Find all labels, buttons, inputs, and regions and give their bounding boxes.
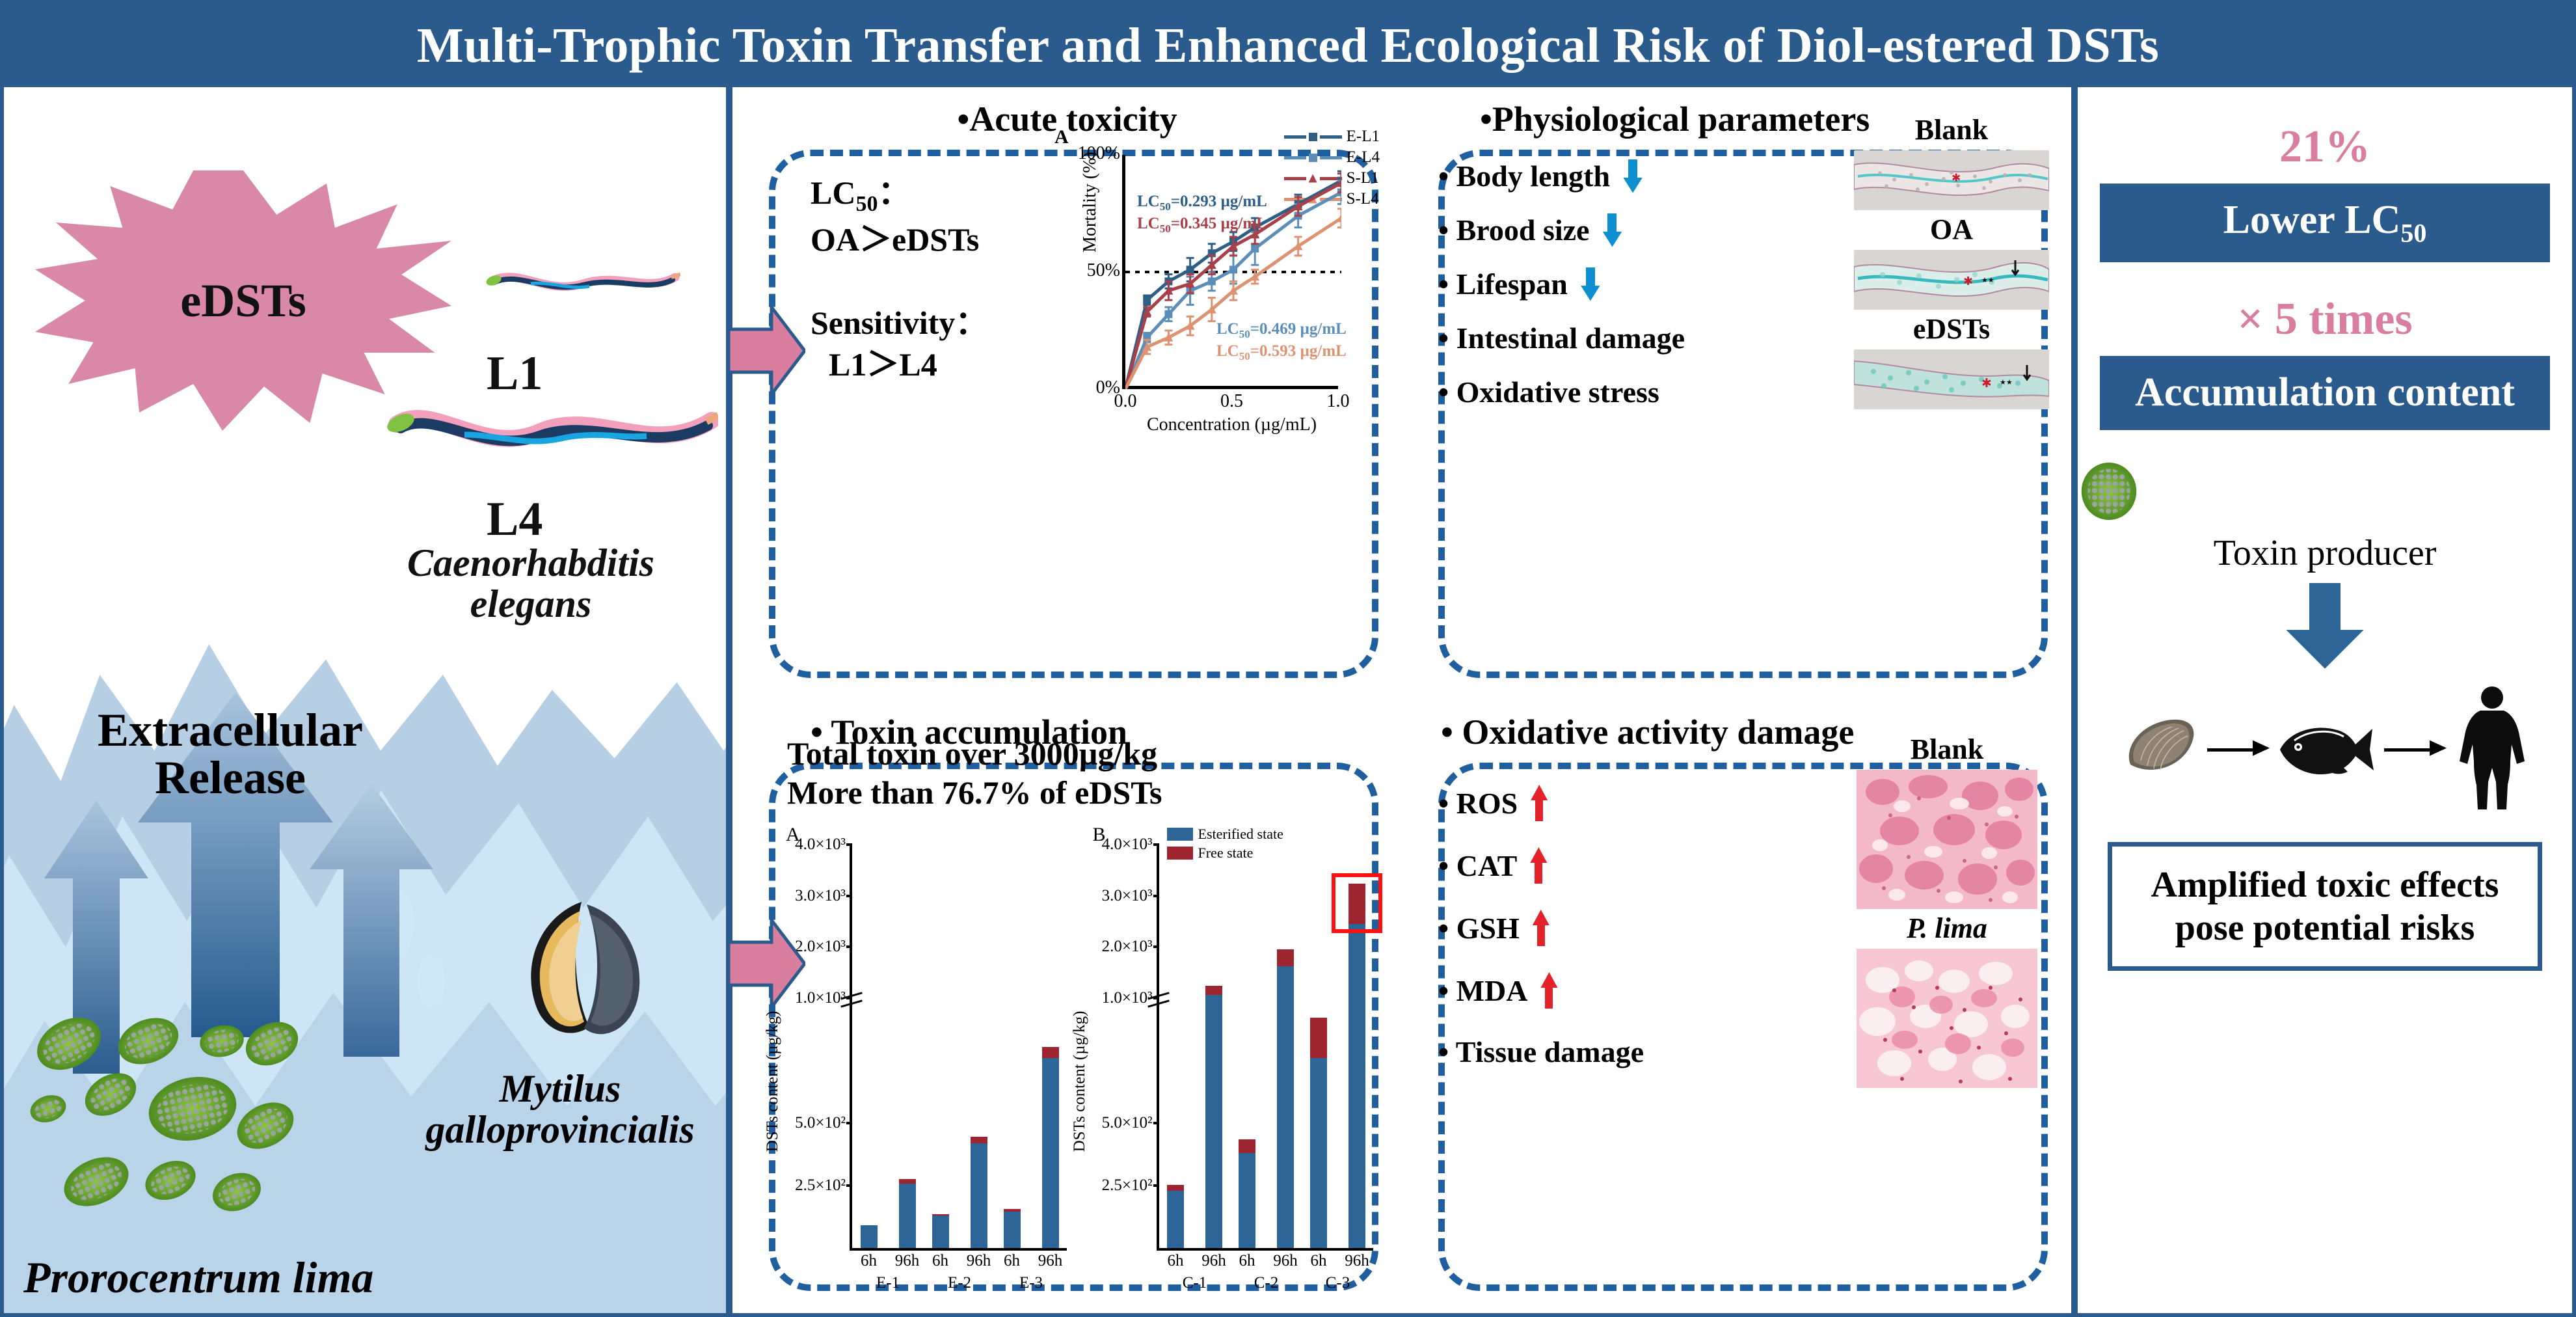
worm-micrograph-edsts: ✱ ★★ (1854, 349, 2049, 409)
bar-stack (1042, 1047, 1059, 1248)
chart-group-label: C-2 (1254, 1274, 1279, 1292)
center-panel: •Acute toxicity LC50： OA＞eDSTs Sensitivi… (732, 87, 2071, 1313)
bar-stack (1205, 986, 1222, 1248)
bar-stack (1004, 1209, 1021, 1248)
chart-x-tick: 96h (1201, 1252, 1226, 1270)
bar-stack (1348, 884, 1365, 1248)
chart-y-tick-mark (846, 945, 852, 948)
lc50-summary: LC50： OA＞eDSTs (811, 172, 979, 260)
chart-plot-area: 2.5×10²5.0×10²1.0×10³2.0×10³3.0×10³4.0×1… (850, 845, 1067, 1251)
bar-segment-free (1205, 986, 1222, 995)
chart-y-axis-label: Mortality (%) (1080, 152, 1101, 252)
chart-x-tick: 0.5 (1220, 391, 1243, 412)
list-item-label: • Intestinal damage (1438, 321, 1685, 355)
flow-arrow-icon (2384, 746, 2447, 753)
sensitivity-summary: Sensitivity： L1＞L4 (811, 302, 987, 385)
bar-segment-esterified (861, 1225, 878, 1248)
bar-stack (899, 1179, 916, 1248)
list-item-label: • Tissue damage (1438, 1035, 1644, 1069)
list-item-label: • CAT (1438, 849, 1517, 883)
bar-segment-free (1167, 1185, 1184, 1190)
svg-text:★★: ★★ (1981, 276, 1994, 284)
stat-lower-lc50-subscript: 50 (2400, 218, 2426, 247)
bar-segment-esterified (971, 1143, 987, 1248)
bar-stack (1277, 949, 1294, 1248)
bar-stack (1239, 1139, 1255, 1248)
list-item-label: • ROS (1438, 786, 1518, 821)
toxin-producer-label: Toxin producer (2078, 532, 2572, 574)
oxidative-list: • ROS • CAT • GSH • MDA • Tissue damage (1438, 785, 1644, 1089)
chart-y-tick: 2.0×10³ (1102, 938, 1153, 956)
chart-y-tick: 1.0×10³ (1102, 989, 1153, 1007)
mortality-chart: A E-L1 E-L4 S (1054, 126, 1380, 458)
bar-segment-free (899, 1179, 916, 1184)
micrograph-caption: P. lima (1857, 912, 2037, 945)
up-arrow-icon (1531, 785, 1548, 821)
physiological-list: • Body length • Brood size • Lifespan • … (1438, 159, 1685, 429)
micrograph-caption: Blank (1854, 113, 2049, 146)
svg-text:✱: ✱ (1963, 275, 1973, 288)
micrograph-caption: eDSTs (1854, 312, 2049, 346)
bar-segment-esterified (1042, 1058, 1059, 1248)
svg-text:✱: ✱ (1952, 172, 1961, 185)
bar-segment-free (1004, 1209, 1021, 1212)
legend-label: E-L1 (1347, 126, 1380, 147)
bar-segment-esterified (1277, 966, 1294, 1248)
bar-segment-esterified (1310, 1058, 1327, 1248)
list-item: • Brood size (1438, 213, 1685, 247)
chart-y-tick: 50% (1087, 260, 1120, 281)
chart-y-tick-mark (846, 895, 852, 897)
sensitivity-label: Sensitivity： (811, 305, 987, 341)
lc50-prefix: LC (811, 174, 855, 211)
chart-x-tick: 6h (1168, 1252, 1184, 1270)
up-arrow-icon (1533, 910, 1550, 946)
list-item: • Oxidative stress (1438, 375, 1685, 409)
mussel-icon (498, 894, 654, 1044)
stat-lower-lc50-badge: Lower LC50 (2100, 183, 2550, 262)
legend-item: Esterified state (1167, 825, 1283, 844)
down-arrow-icon (2286, 583, 2364, 669)
svg-text:✱: ✱ (1981, 376, 1992, 390)
legend-label: Esterified state (1198, 825, 1283, 844)
down-arrow-icon (1623, 159, 1643, 193)
legend-label: E-L4 (1347, 147, 1380, 168)
stat-times-value: × 5 times (2078, 293, 2572, 346)
chart-y-tick-mark (1153, 1122, 1159, 1124)
fish-icon (2275, 718, 2379, 781)
list-item: • Tissue damage (1438, 1035, 1644, 1069)
worm-l1-icon (485, 262, 680, 307)
bar-segment-esterified (1205, 995, 1222, 1248)
edsts-starburst: eDSTs (35, 170, 451, 431)
stage-label-l1: L1 (487, 346, 543, 401)
flow-arrow-icon (729, 302, 805, 400)
chart-x-tick: 6h (1311, 1252, 1327, 1270)
highlight-box (1332, 873, 1382, 932)
legend-item: E-L1 (1284, 126, 1380, 147)
chart-y-tick: 5.0×10² (1102, 1114, 1153, 1132)
up-arrow-icon (1540, 972, 1557, 1009)
right-panel: 21% Lower LC50 × 5 times Accumulation co… (2078, 87, 2572, 1313)
worm-micrograph-oa: ✱ ★★ (1854, 250, 2049, 310)
stat-lower-lc50-label: Lower LC (2223, 198, 2401, 242)
card-physiological-parameters: •Physiological parameters • Body length … (1402, 87, 2071, 700)
food-chain-diagram (2078, 685, 2572, 815)
chart-group-label: E-2 (948, 1274, 971, 1292)
lc50-subscript: 50 (855, 192, 878, 216)
center-row-bottom: • Toxin accumulation Total toxin over 30… (732, 700, 2071, 1313)
chart-y-tick: 4.0×10³ (1102, 835, 1153, 854)
chart-y-tick: 2.5×10² (795, 1176, 846, 1195)
flow-arrow-icon (2207, 746, 2270, 753)
list-item-label: • Body length (1438, 159, 1610, 193)
tissue-micrograph-column: Blank (1857, 730, 2037, 1088)
chart-y-axis-label: DSTs content (µg/kg) (764, 1011, 782, 1152)
edsts-label: eDSTs (180, 274, 306, 328)
organism-label-prorocentrum: Prorocentrum lima (23, 1252, 373, 1303)
bar-segment-esterified (1239, 1153, 1255, 1248)
bar-stack (861, 1225, 878, 1248)
chart-y-tick-mark (1153, 895, 1159, 897)
lc50-comparison: OA＞eDSTs (811, 221, 979, 258)
worm-micrograph-column: Blank (1854, 111, 2049, 409)
chart-group-label: C-3 (1326, 1274, 1350, 1292)
card-acute-toxicity: •Acute toxicity LC50： OA＞eDSTs Sensitivi… (732, 87, 1402, 700)
chart-x-tick: 96h (967, 1252, 991, 1270)
worm-l4-icon (386, 398, 718, 476)
chart-annotation: LC50=0.593 µg/mL (1216, 342, 1347, 363)
organism-label-celegans: Caenorhabditis elegans (375, 543, 687, 625)
mussel-icon (2117, 714, 2202, 785)
algae-cells-icon (30, 985, 459, 1258)
bar-chart-panel-a: A DSTs content (µg/kg) 2.5×10²5.0×10²1.0… (777, 828, 1069, 1299)
page-title: Multi-Trophic Toxin Transfer and Enhance… (417, 18, 2159, 74)
conclusion-box: Amplified toxic effects pose potential r… (2108, 842, 2542, 971)
bar-segment-free (971, 1137, 987, 1143)
panel-divider-left (726, 87, 732, 1313)
list-item-label: • Oxidative stress (1438, 375, 1659, 409)
accumulation-bar-charts: A DSTs content (µg/kg) 2.5×10²5.0×10²1.0… (777, 828, 1376, 1299)
chart-group-label: E-3 (1019, 1274, 1043, 1292)
bar-segment-esterified (1004, 1212, 1021, 1248)
chart-y-tick: 2.5×10² (1102, 1176, 1153, 1195)
list-item: • CAT (1438, 847, 1644, 884)
bar-segment-free (932, 1214, 949, 1215)
bar-stack (1167, 1185, 1184, 1248)
organism-label-mytilus: Mytilus galloprovincialis (407, 1068, 713, 1150)
bar-segment-free (1310, 1018, 1327, 1058)
chart-y-tick: 5.0×10² (795, 1114, 846, 1132)
chart-x-tick: 6h (861, 1252, 877, 1270)
chart-group-label: E-1 (876, 1274, 900, 1292)
chart-group-label: C-1 (1183, 1274, 1207, 1292)
chart-x-axis-label: Concentration (µg/mL) (1147, 414, 1317, 435)
chart-x-tick: 6h (1004, 1252, 1020, 1270)
chart-annotation: LC50=0.293 µg/mL (1137, 193, 1267, 213)
card-oxidative-damage: • Oxidative activity damage • ROS • CAT … (1402, 700, 2071, 1313)
bar-chart-panel-b: B DSTs content (µg/kg) Esterified state … (1084, 828, 1376, 1299)
micrograph-caption: Blank (1857, 733, 2037, 766)
bar-stack (932, 1214, 949, 1248)
chart-y-tick-mark (846, 843, 852, 846)
toxin-headline-line2: More than 76.7% of eDSTs (787, 774, 1162, 811)
chart-x-tick: 96h (1273, 1252, 1298, 1270)
human-silhouette-icon (2452, 685, 2532, 815)
lc50-colon: ： (878, 174, 910, 211)
chart-plot-area: Mortality (%) 100% 50% 0% 0.0 0.5 1.0 Co… (1122, 155, 1338, 389)
legend-label: S-L4 (1347, 189, 1379, 210)
list-item-label: • GSH (1438, 911, 1520, 945)
list-item-label: • MDA (1438, 973, 1527, 1008)
up-arrow-icon (1530, 847, 1547, 884)
worm-micrograph-blank: ✱ (1854, 150, 2049, 210)
bar-segment-free (1277, 949, 1294, 966)
list-item-label: • Lifespan (1438, 267, 1568, 301)
stage-label-l4: L4 (487, 492, 543, 547)
chart-x-tick: 1.0 (1327, 391, 1350, 412)
legend-label: S-L1 (1347, 168, 1379, 189)
left-panel: eDSTs (4, 87, 726, 1313)
sensitivity-comparison: L1＞L4 (811, 344, 987, 385)
chart-x-tick: 96h (895, 1252, 920, 1270)
chart-y-tick-mark (846, 1122, 852, 1124)
chart-y-axis-label: DSTs content (µg/kg) (1071, 1011, 1089, 1152)
bar-segment-free (1239, 1139, 1255, 1153)
chart-plot-area: 2.5×10²5.0×10²1.0×10³2.0×10³3.0×10³4.0×1… (1157, 845, 1374, 1251)
poster-header: Multi-Trophic Toxin Transfer and Enhance… (4, 4, 2572, 87)
card-toxin-accumulation: • Toxin accumulation Total toxin over 30… (732, 700, 1402, 1313)
bar-segment-esterified (1167, 1191, 1184, 1248)
chart-panel-letter: A (1054, 126, 1069, 148)
extracellular-release-label: Extracellular Release (22, 707, 438, 802)
bar-segment-esterified (932, 1215, 949, 1248)
svg-text:★★: ★★ (2000, 378, 2013, 387)
chart-x-tick: 6h (1239, 1252, 1255, 1270)
chart-annotation: LC50=0.469 µg/mL (1216, 320, 1347, 341)
down-arrow-icon (1602, 213, 1622, 247)
toxin-headline-line1: Total toxin over 3000µg/kg (787, 735, 1157, 772)
tissue-micrograph-plima (1857, 949, 2037, 1088)
bar-segment-esterified (1348, 924, 1365, 1248)
chart-x-tick: 6h (932, 1252, 948, 1270)
list-item-label: • Brood size (1438, 213, 1589, 247)
chart-annotation: LC50=0.345 µg/mL (1137, 215, 1267, 236)
bar-stack (971, 1137, 987, 1248)
chart-x-tick: 0.0 (1114, 391, 1137, 412)
chart-y-tick-mark (1153, 843, 1159, 846)
chart-y-tick: 100% (1078, 143, 1120, 164)
chart-y-tick-mark (846, 1184, 852, 1187)
list-item: • GSH (1438, 910, 1644, 946)
algae-cell-icon (2078, 460, 2140, 523)
chart-x-tick: 96h (1038, 1252, 1063, 1270)
chart-y-tick: 3.0×10³ (795, 887, 846, 905)
chart-y-tick: 3.0×10³ (1102, 887, 1153, 905)
chart-x-tick: 96h (1345, 1252, 1369, 1270)
bar-segment-free (1042, 1047, 1059, 1058)
list-item: • Intestinal damage (1438, 321, 1685, 355)
panel-divider-right (2071, 87, 2078, 1313)
flow-arrow-icon (729, 915, 805, 1012)
list-item: • ROS (1438, 785, 1644, 821)
center-row-top: •Acute toxicity LC50： OA＞eDSTs Sensitivi… (732, 87, 2071, 700)
chart-y-tick-mark (1153, 945, 1159, 948)
tissue-micrograph-blank (1857, 770, 2037, 909)
micrograph-caption: OA (1854, 213, 2049, 246)
chart-y-tick: 4.0×10³ (795, 835, 846, 854)
poster-body: eDSTs (4, 87, 2572, 1313)
bar-segment-esterified (899, 1184, 916, 1248)
stat-percent-value: 21% (2078, 121, 2572, 173)
bar-stack (1310, 1018, 1327, 1248)
list-item: • Body length (1438, 159, 1685, 193)
chart-y-tick-mark (1153, 1184, 1159, 1187)
list-item: • Lifespan (1438, 267, 1685, 301)
down-arrow-icon (1581, 267, 1600, 301)
graphical-abstract-poster: Multi-Trophic Toxin Transfer and Enhance… (0, 0, 2576, 1317)
stat-accumulation-badge: Accumulation content (2100, 356, 2550, 429)
list-item: • MDA (1438, 972, 1644, 1009)
toxin-headline: Total toxin over 3000µg/kg More than 76.… (787, 734, 1162, 812)
